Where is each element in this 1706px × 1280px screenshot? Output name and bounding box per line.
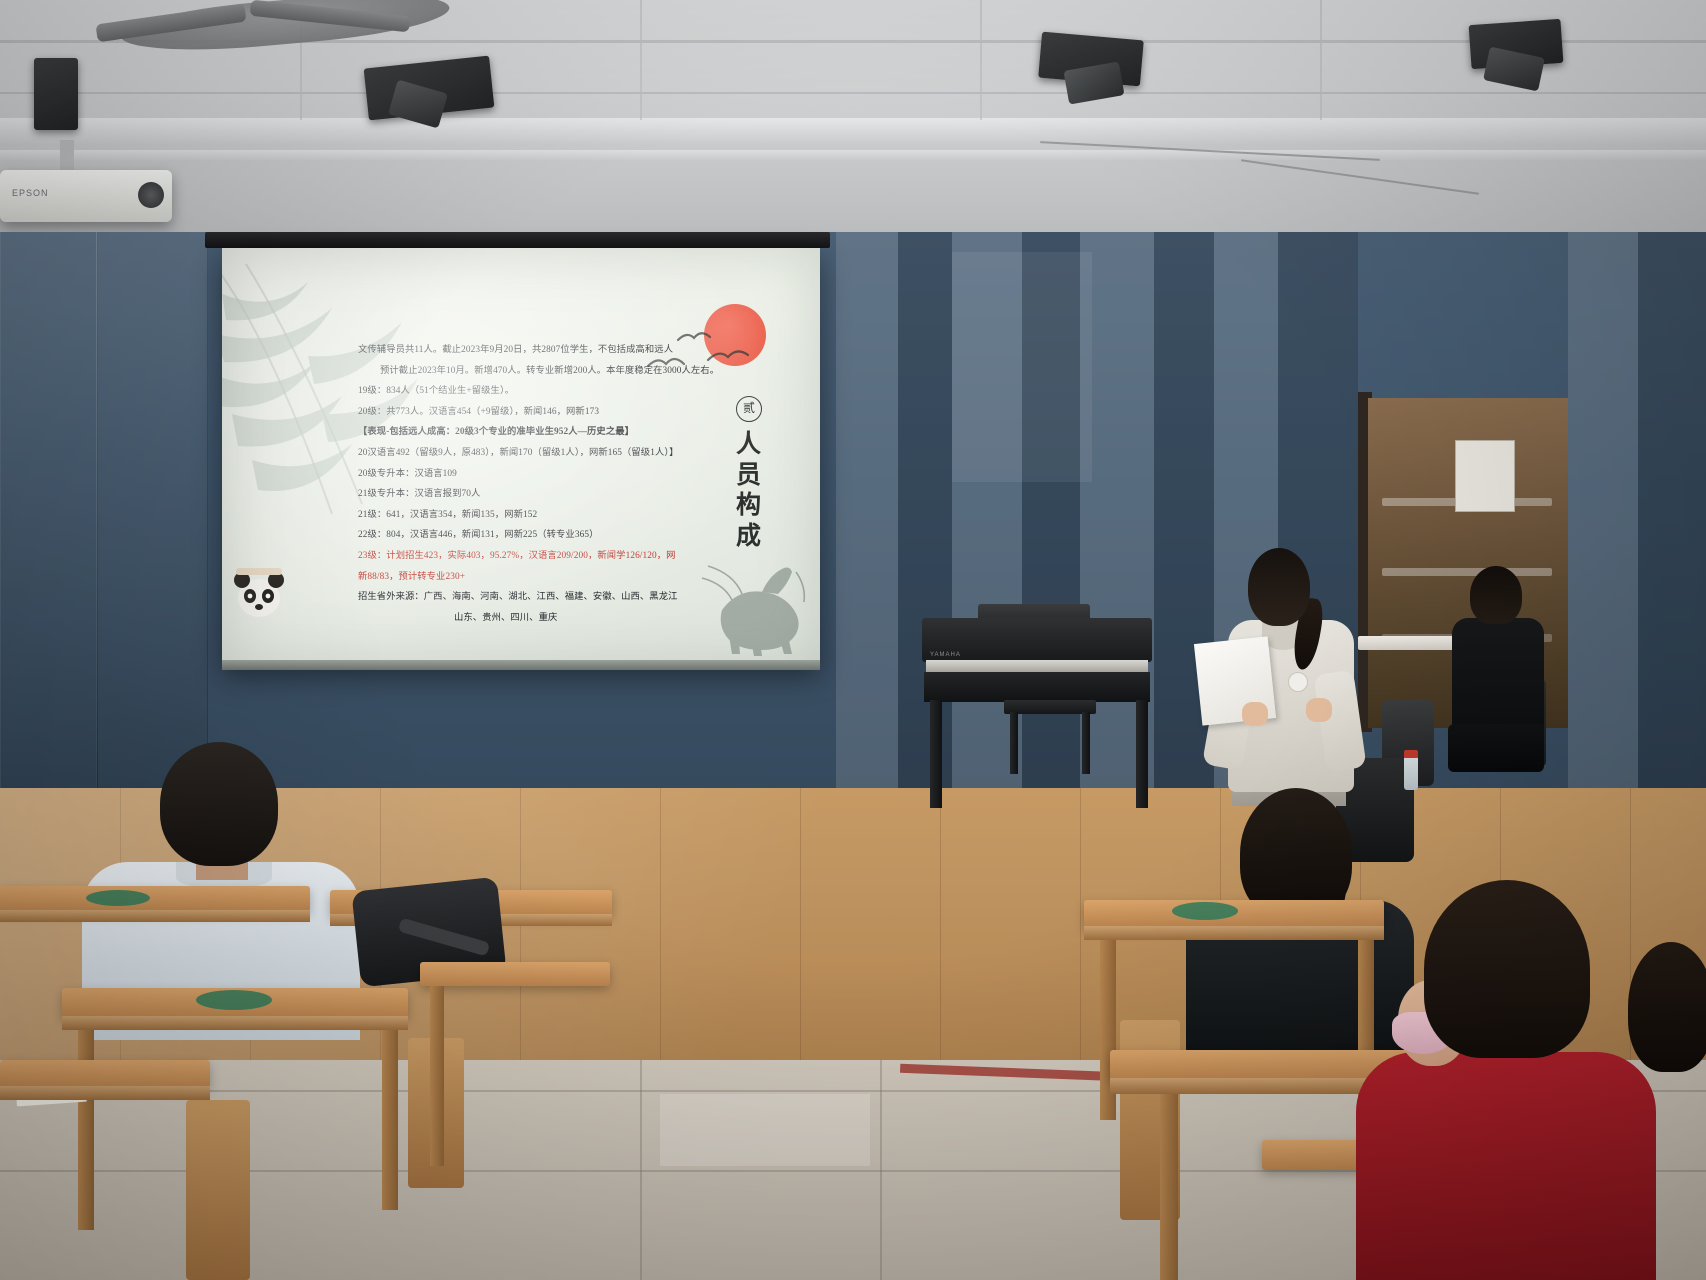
desk-edge: [0, 910, 310, 922]
slide-line: 20级：共773人。汉语言454（+9留级），新闻146，网新173: [358, 402, 778, 423]
desk: [420, 962, 610, 986]
presenter-hand-right: [1306, 698, 1332, 722]
slide-line: 22级：804，汉语言446，新闻131，网新225（转专业365）: [358, 525, 778, 546]
desk-leg: [430, 986, 444, 1166]
projector: EPSON: [0, 170, 172, 222]
projector-lens: [138, 182, 164, 208]
slide-line: 20汉语言492（留级9人，原483），新闻170（留级1人），网新165（留级…: [358, 443, 778, 464]
piano-leg: [1136, 700, 1148, 808]
slide-content: 贰 人员构成: [222, 248, 820, 666]
wall-poster: [1455, 440, 1515, 512]
seated-attendee-right-hair: [1470, 566, 1522, 624]
ceiling-seam: [0, 92, 1706, 94]
chair-back: [186, 1100, 250, 1280]
panda-mascot: [230, 564, 288, 620]
desk: [0, 1060, 210, 1088]
slide-line: 20级专升本：汉语言109: [358, 464, 778, 485]
slide-line-red: 23级：计划招生423，实际403，95.27%，汉语言209/200，新闻学1…: [358, 546, 778, 567]
bench-leg: [1082, 712, 1090, 774]
ceiling-panel-line: [1320, 0, 1322, 120]
slide-line: 山东、贵州、四川、重庆: [358, 608, 778, 629]
stage-light: [34, 58, 78, 130]
bench-leg: [1010, 712, 1018, 774]
projection-screen: 贰 人员构成: [222, 248, 820, 666]
bottle-cap: [1404, 750, 1418, 758]
slide-line: 21级：641，汉语言354，新闻135，网新152: [358, 505, 778, 526]
slide-line: 招生省外来源：广西、海南、河南、湖北、江西、福建、安徽、山西、黑龙江: [358, 587, 778, 608]
desk-pad: [1172, 902, 1238, 920]
audience-red-shirt-hair: [1424, 880, 1590, 1058]
slide-line-red: 新88/83，预计转专业230+: [358, 567, 778, 588]
audience-red-shirt-body: [1356, 1052, 1656, 1280]
ceiling-panel-line: [980, 0, 982, 120]
piano-brand-label: YAMAHA: [930, 652, 961, 658]
projector-brand-label: EPSON: [12, 188, 49, 198]
presenter-hand-left: [1242, 702, 1268, 726]
ceiling: EPSON: [0, 0, 1706, 240]
ceiling-panel-line: [640, 0, 642, 120]
ceiling-cable: [1241, 159, 1479, 194]
desk: [0, 886, 310, 912]
ceiling-beam-secondary: [0, 150, 1706, 160]
desk-edge: [62, 1016, 408, 1030]
screen-housing: [205, 232, 830, 248]
slide-line-highlight: 【表现-包括远人成高：20级3个专业的准毕业生952人—历史之最】: [358, 422, 778, 443]
piano-leg: [930, 700, 942, 808]
piano-body: [924, 672, 1150, 702]
slide-body-text: 文传辅导员共11人。截止2023年9月20日，共2807位学生，不包括成高和远人…: [358, 340, 778, 628]
desk-pad: [196, 990, 272, 1010]
water-bottle: [1404, 756, 1418, 790]
presenter-hair: [1248, 548, 1310, 626]
presenter-badge: [1288, 672, 1308, 692]
desk-edge: [1084, 926, 1384, 940]
slide-line: 预计截止2023年10月。新增470人。转专业新增200人。本年度稳定在3000…: [358, 361, 778, 382]
slide-line: 21级专升本：汉语言报到70人: [358, 484, 778, 505]
desk-leg: [382, 1030, 398, 1210]
desk-edge: [0, 1086, 210, 1100]
desk-pad: [86, 890, 150, 906]
screen-bottom-bar: [222, 660, 820, 670]
slide-line: 19级：834人（51个结业生+留级生）。: [358, 381, 778, 402]
seated-attendee-right-legs: [1448, 724, 1544, 772]
piano-keys: [926, 660, 1148, 672]
desk-leg: [1160, 1094, 1178, 1280]
audience-far-right-hair: [1628, 942, 1706, 1072]
seated-attendee-right-body: [1452, 618, 1544, 738]
audience-front-left-head: [160, 742, 278, 866]
desk: [1110, 1050, 1410, 1080]
presentation-scene-photo: EPSON: [0, 0, 1706, 1280]
slide-line: 文传辅导员共11人。截止2023年9月20日，共2807位学生，不包括成高和远人: [358, 340, 778, 361]
ceiling-beam: [0, 118, 1706, 144]
